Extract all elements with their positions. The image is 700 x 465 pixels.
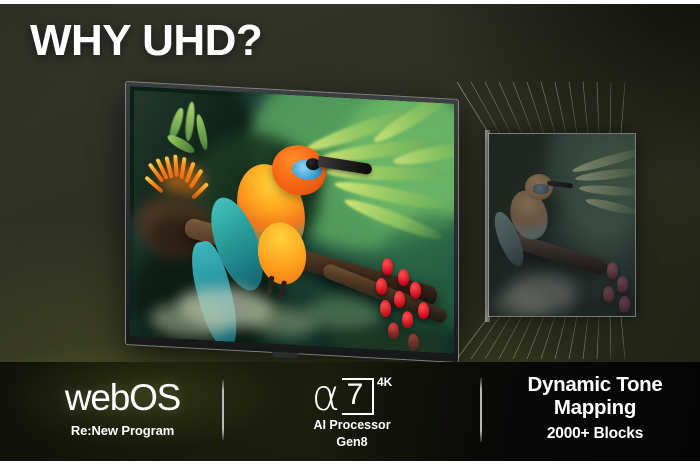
webos-subtitle: Re:New Program <box>50 423 195 438</box>
tv-scene <box>130 86 454 354</box>
alpha-symbol-icon: α <box>312 375 340 418</box>
tv-screen <box>130 86 454 354</box>
webos-wordmark: webOS <box>50 379 195 416</box>
feature-webos: webOS Re:New Program <box>50 379 195 438</box>
dtm-subtitle: 2000+ Blocks <box>496 425 694 443</box>
feature-dynamic-tone-mapping: Dynamic Tone Mapping 2000+ Blocks <box>496 374 694 443</box>
feature-divider-1 <box>222 380 224 440</box>
uhd-tv <box>126 82 458 362</box>
dtm-title-line1: Dynamic Tone <box>496 374 694 397</box>
dtm-title-line2: Mapping <box>496 397 694 420</box>
back-panel-dim-image <box>489 134 635 316</box>
alpha7-number-box: 7 <box>342 378 374 415</box>
alpha7-number: 7 <box>347 380 364 410</box>
alpha7-4k-badge: 4K <box>377 375 392 389</box>
top-border-line <box>0 0 700 4</box>
feature-divider-2 <box>480 378 482 442</box>
bottom-border-line <box>0 461 700 465</box>
alpha7-logo: α 7 4K <box>288 376 416 416</box>
alpha7-subtitle-line2: Gen8 <box>288 435 416 450</box>
feature-alpha7-processor: α 7 4K AI Processor Gen8 <box>288 376 416 450</box>
back-panel-scene <box>489 134 635 316</box>
page-title: WHY UHD? <box>30 19 262 63</box>
promo-slide: WHY UHD? <box>0 0 700 465</box>
alpha7-subtitle-line1: AI Processor <box>288 418 416 433</box>
